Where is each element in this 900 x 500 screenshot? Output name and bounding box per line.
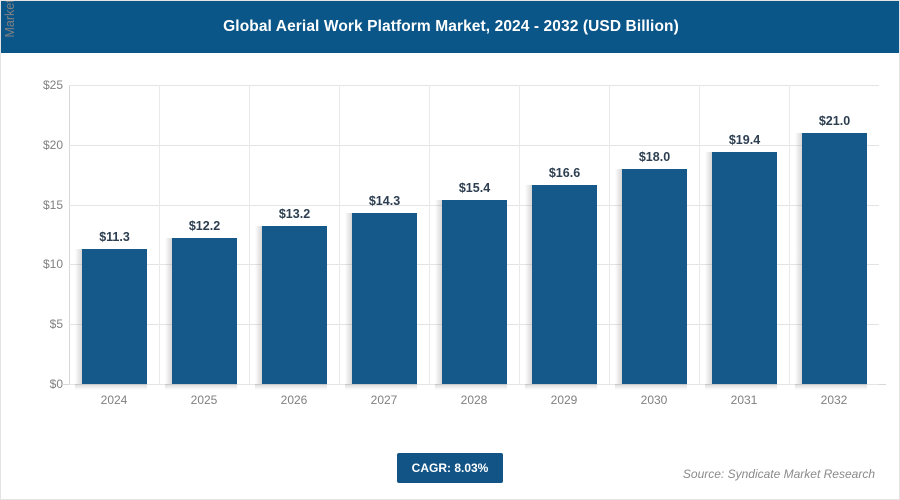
page-title: Global Aerial Work Platform Market, 2024… xyxy=(223,18,679,36)
x-tick-label: 2027 xyxy=(339,393,429,407)
bar-value-label: $16.6 xyxy=(549,166,580,180)
bar-shadow-bottom xyxy=(435,384,507,390)
gridline-vertical xyxy=(429,85,430,384)
x-tick-label: 2029 xyxy=(519,393,609,407)
x-tick-label: 2031 xyxy=(699,393,789,407)
bar-shadow xyxy=(705,152,712,384)
gridline-vertical xyxy=(249,85,250,384)
source-note: Source: Syndicate Market Research xyxy=(683,467,875,481)
bar-rect[interactable] xyxy=(82,249,147,384)
gridline-vertical xyxy=(699,85,700,384)
bar-shadow xyxy=(75,249,82,384)
x-tick-label: 2024 xyxy=(69,393,159,407)
bar-rect[interactable] xyxy=(262,226,327,384)
bar-2029[interactable]: $16.6 xyxy=(532,185,597,384)
plot-area: $11.3$12.2$13.2$14.3$15.4$16.6$18.0$19.4… xyxy=(69,85,879,384)
bar-value-label: $12.2 xyxy=(189,219,220,233)
bar-2025[interactable]: $12.2 xyxy=(172,238,237,384)
bar-rect[interactable] xyxy=(352,213,417,384)
bar-shadow xyxy=(615,169,622,384)
bar-rect[interactable] xyxy=(172,238,237,384)
x-tick-label: 2032 xyxy=(789,393,879,407)
bar-shadow-bottom xyxy=(255,384,327,390)
bar-shadow-bottom xyxy=(615,384,687,390)
y-tick-label: $15 xyxy=(23,198,63,212)
bar-rect[interactable] xyxy=(442,200,507,384)
gridline-vertical xyxy=(519,85,520,384)
chart-page: Global Aerial Work Platform Market, 2024… xyxy=(0,0,900,500)
cagr-badge-label: CAGR: 8.03% xyxy=(412,461,489,475)
bar-shadow-bottom xyxy=(525,384,597,390)
bar-value-label: $19.4 xyxy=(729,133,760,147)
bar-rect[interactable] xyxy=(802,133,867,384)
bar-value-label: $13.2 xyxy=(279,207,310,221)
bar-value-label: $21.0 xyxy=(819,114,850,128)
bar-shadow-bottom xyxy=(795,384,867,390)
bar-shadow-bottom xyxy=(345,384,417,390)
bar-shadow-bottom xyxy=(75,384,147,390)
bar-rect[interactable] xyxy=(532,185,597,384)
bar-shadow-bottom xyxy=(705,384,777,390)
x-tick-label: 2030 xyxy=(609,393,699,407)
y-tick-label: $5 xyxy=(23,317,63,331)
bar-2027[interactable]: $14.3 xyxy=(352,213,417,384)
bar-shadow xyxy=(345,213,352,384)
bar-value-label: $11.3 xyxy=(99,230,130,244)
bar-rect[interactable] xyxy=(712,152,777,384)
gridline-horizontal xyxy=(69,85,879,86)
gridline-vertical xyxy=(609,85,610,384)
gridline-vertical xyxy=(339,85,340,384)
bar-value-label: $15.4 xyxy=(459,181,490,195)
bar-shadow xyxy=(255,226,262,384)
x-tick-label: 2026 xyxy=(249,393,339,407)
x-tick-label: 2028 xyxy=(429,393,519,407)
bar-shadow-bottom xyxy=(165,384,237,390)
x-axis-ticks: 202420252026202720282029203020312032 xyxy=(69,393,879,413)
y-tick-label: $25 xyxy=(23,78,63,92)
cagr-badge: CAGR: 8.03% xyxy=(397,453,503,483)
bar-2032[interactable]: $21.0 xyxy=(802,133,867,384)
x-tick-label: 2025 xyxy=(159,393,249,407)
y-tick-label: $10 xyxy=(23,257,63,271)
bar-shadow xyxy=(525,185,532,384)
bar-rect[interactable] xyxy=(622,169,687,384)
bar-2024[interactable]: $11.3 xyxy=(82,249,147,384)
bar-value-label: $14.3 xyxy=(369,194,400,208)
gridline-vertical xyxy=(789,85,790,384)
bar-shadow xyxy=(795,133,802,384)
bar-2028[interactable]: $15.4 xyxy=(442,200,507,384)
bar-2031[interactable]: $19.4 xyxy=(712,152,777,384)
y-tick-label: $0 xyxy=(23,377,63,391)
bar-shadow xyxy=(165,238,172,384)
bar-2026[interactable]: $13.2 xyxy=(262,226,327,384)
chart-header-bar: Global Aerial Work Platform Market, 2024… xyxy=(1,1,900,53)
bar-value-label: $18.0 xyxy=(639,150,670,164)
gridline-vertical xyxy=(159,85,160,384)
y-tick-label: $20 xyxy=(23,138,63,152)
bar-2030[interactable]: $18.0 xyxy=(622,169,687,384)
bar-shadow xyxy=(435,200,442,384)
y-axis-ticks: $0$5$10$15$20$25 xyxy=(19,1,63,500)
